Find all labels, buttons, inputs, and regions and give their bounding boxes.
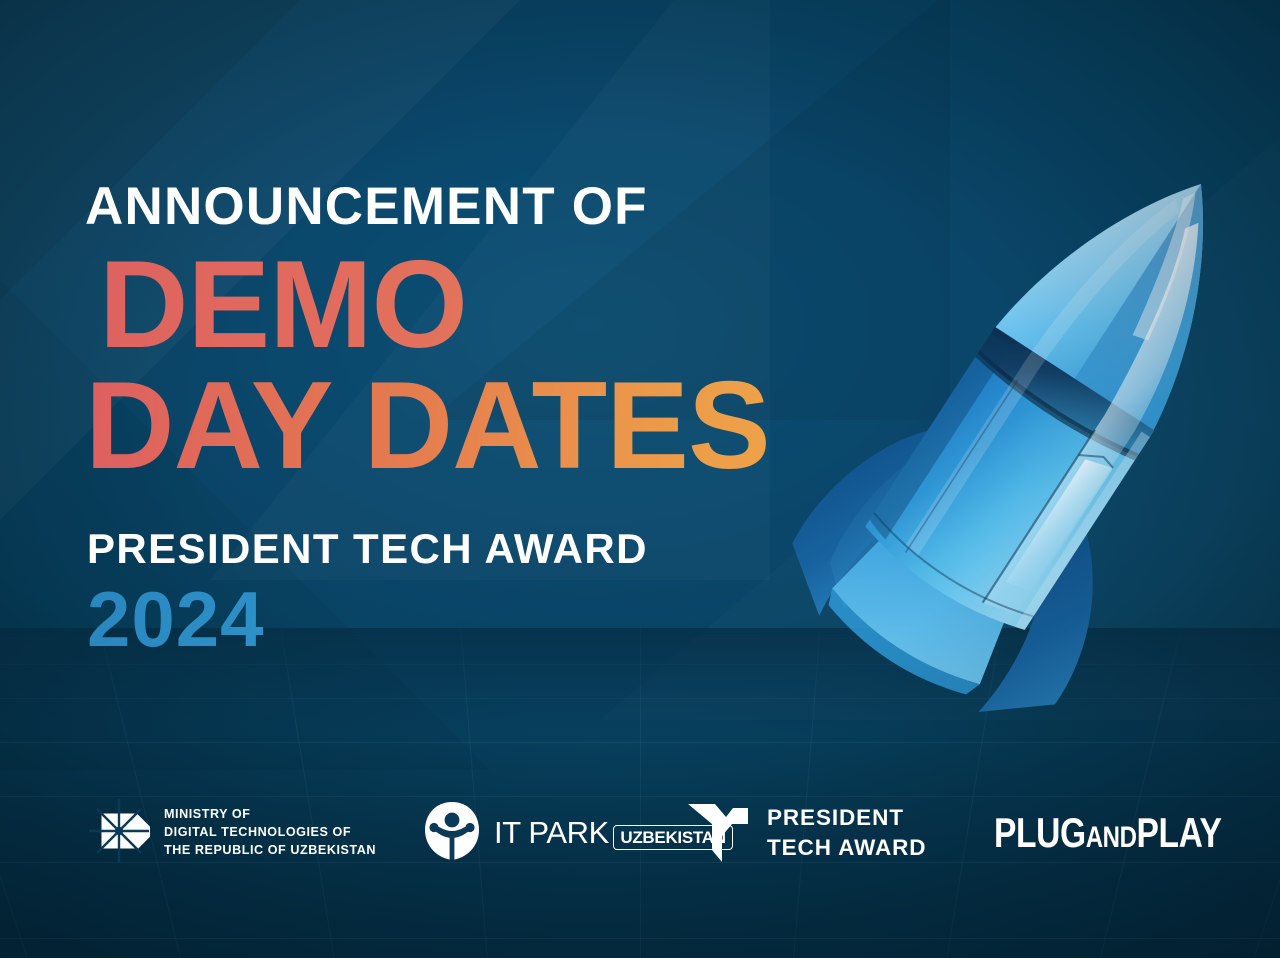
pta-line-2: TECH AWARD	[767, 835, 926, 860]
grid-line-horizontal	[0, 664, 1280, 665]
logo-ministry-digital-technologies[interactable]: MINISTRY OF DIGITAL TECHNOLOGIES OF THE …	[88, 798, 376, 869]
kicker-text: ANNOUNCEMENT OF	[85, 180, 945, 233]
it-park-person-shield-icon	[423, 800, 481, 867]
partner-logo-bar: MINISTRY OF DIGITAL TECHNOLOGIES OF THE …	[0, 786, 1280, 880]
uzbekistan-star-icon	[88, 798, 150, 869]
award-year-text: 2024	[87, 580, 945, 658]
rocket-highlight-main	[954, 218, 1248, 621]
pnp-word-and: AND	[1086, 821, 1137, 854]
ministry-logo-text: MINISTRY OF DIGITAL TECHNOLOGIES OF THE …	[164, 806, 376, 860]
award-name-text: PRESIDENT TECH AWARD	[87, 528, 945, 570]
headline-block: ANNOUNCEMENT OF DEMO DAY DATES PRESIDENT…	[85, 180, 945, 658]
rocket-fin-right	[947, 517, 1143, 745]
rocket-nose-cone	[991, 132, 1280, 437]
announcement-poster: ANNOUNCEMENT OF DEMO DAY DATES PRESIDENT…	[0, 0, 1280, 958]
logo-president-tech-award[interactable]: PRESIDENT TECH AWARD	[686, 798, 926, 869]
rocket-band	[973, 327, 1154, 464]
headline-line-day-dates: DAY DATES	[85, 368, 945, 485]
rocket-panel-highlight	[1006, 453, 1113, 597]
ministry-line-3: THE REPUBLIC OF UZBEKISTAN	[164, 843, 376, 857]
origami-bird-icon	[686, 798, 750, 869]
pnp-word-play: PLAY	[1137, 809, 1222, 856]
ministry-line-2: DIGITAL TECHNOLOGIES OF	[164, 825, 351, 839]
logo-plug-and-play[interactable]: PLUGANDPLAY	[994, 812, 1278, 854]
ministry-line-1: MINISTRY OF	[164, 807, 251, 821]
grid-line-horizontal	[0, 698, 1280, 699]
headline-line-demo: DEMO	[99, 247, 945, 364]
grid-line-horizontal	[0, 742, 1280, 743]
president-tech-award-wordmark: PRESIDENT TECH AWARD	[767, 803, 926, 863]
plug-and-play-wordmark: PLUGANDPLAY	[994, 812, 1221, 854]
pnp-word-plug: PLUG	[994, 809, 1086, 856]
it-park-name: IT PARK	[494, 815, 609, 850]
grid-line-horizontal	[0, 938, 1280, 939]
pta-line-1: PRESIDENT	[767, 805, 904, 830]
